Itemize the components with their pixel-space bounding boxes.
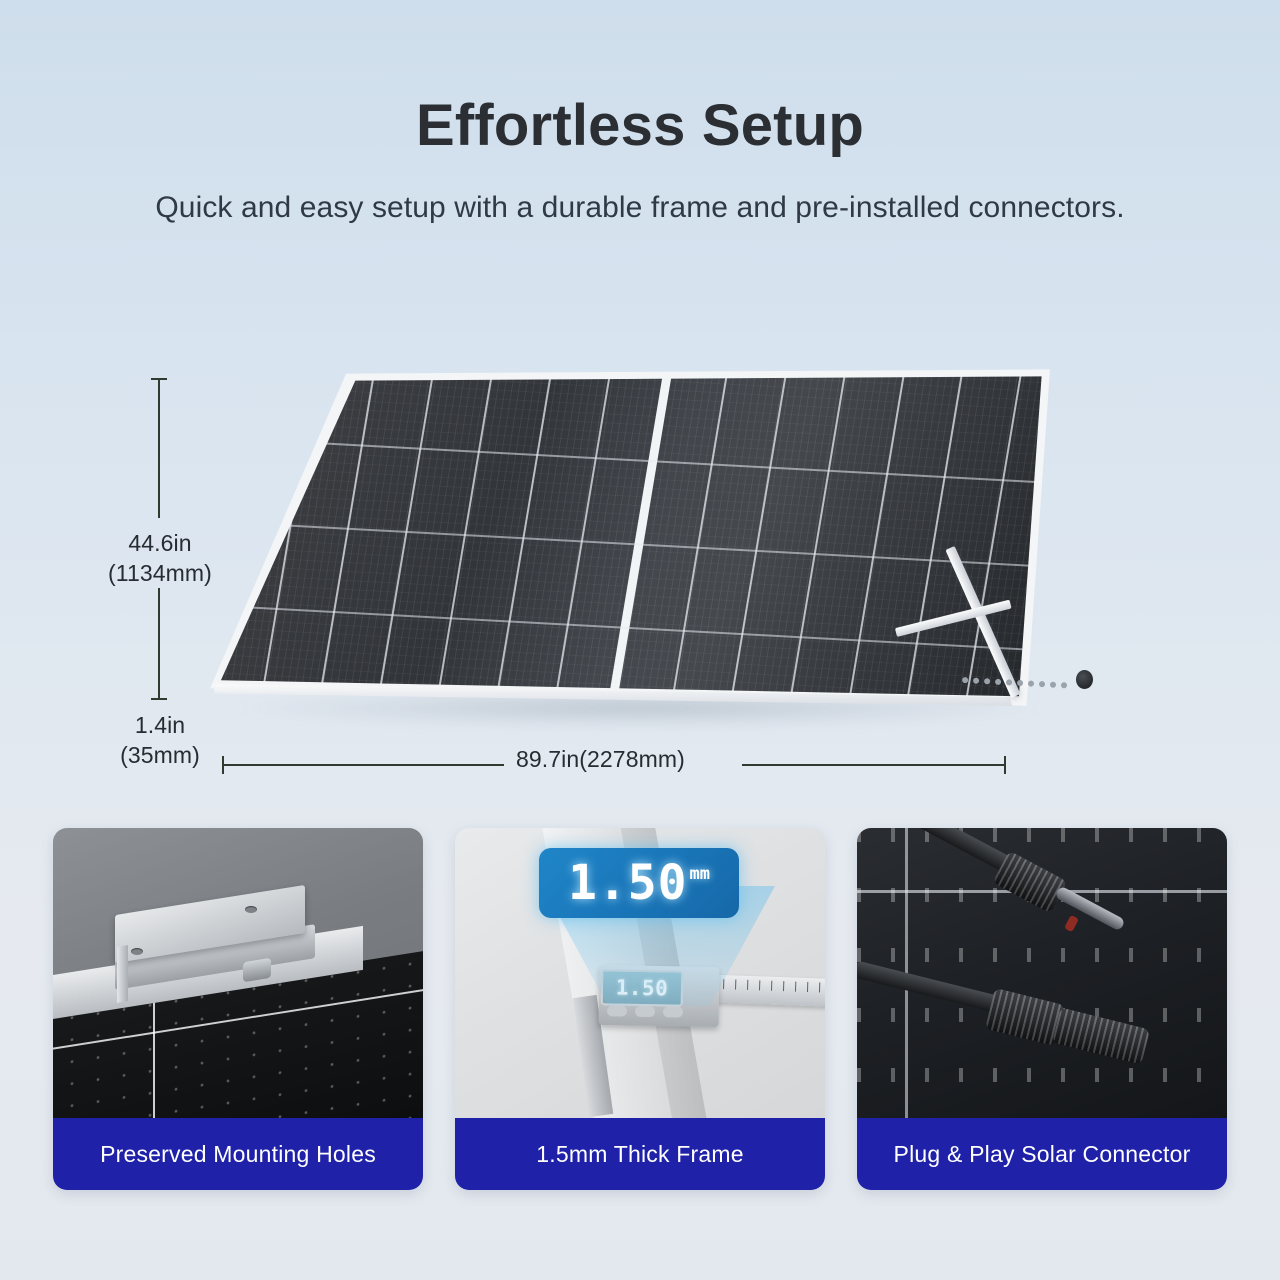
panel-cell-surface [210,368,1050,718]
bracket-leg [117,945,128,1003]
feature-card-thick-frame[interactable]: 1.50 1.50 mm 1.5mm Thick Frame [455,828,825,1190]
infographic-root: Effortless Setup Quick and easy setup wi… [0,0,1280,1280]
bracket-photo [53,828,423,1118]
callout-unit: mm [690,864,710,884]
connector-photo [857,828,1227,1118]
kickstand-end-cap [1076,670,1093,689]
feature-card-mounting-holes[interactable]: Preserved Mounting Holes [53,828,423,1190]
page-subtitle: Quick and easy setup with a durable fram… [0,191,1280,225]
feature-card-solar-connector[interactable]: Plug & Play Solar Connector [857,828,1227,1190]
caliper-buttons [607,1005,687,1020]
page-title: Effortless Setup [0,96,1280,157]
callout-value: 1.50 [568,855,688,911]
measurement-callout: 1.50 mm [539,848,739,918]
bracket-hole-right [245,906,257,913]
card-caption-mounting-holes: Preserved Mounting Holes [53,1118,423,1190]
panel-glass-gloss [210,368,1050,718]
feature-card-row: Preserved Mounting Holes [0,828,1280,1196]
card-caption-solar-connector: Plug & Play Solar Connector [857,1118,1227,1190]
solar-panel-illustration [200,358,1080,758]
bracket-hole-left [131,948,143,955]
caliper-photo: 1.50 1.50 mm [455,828,825,1118]
header: Effortless Setup Quick and easy setup wi… [0,96,1280,225]
card-caption-thick-frame: 1.5mm Thick Frame [455,1118,825,1190]
dimension-diagram: 44.6in (1134mm) 1.4in (35mm) 89.7in(2278… [0,330,1280,810]
panel-frame [210,368,1050,718]
